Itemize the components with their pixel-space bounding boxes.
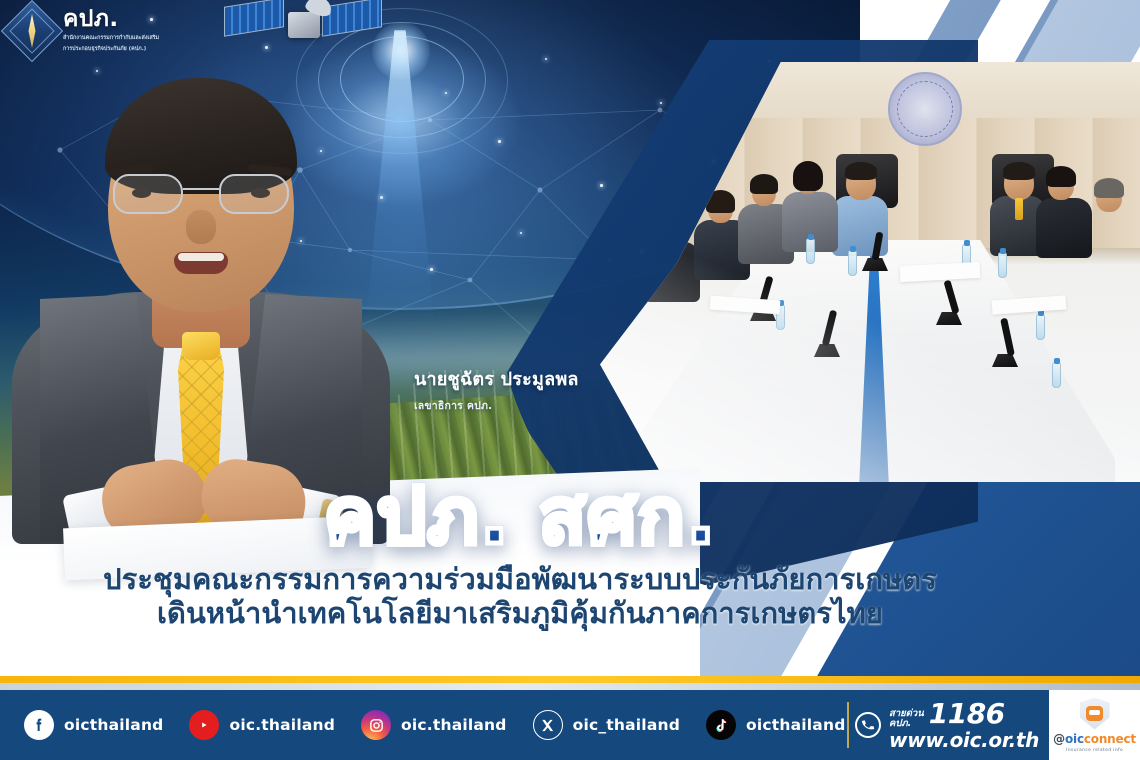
diamond-beam-icon bbox=[1, 0, 63, 62]
phone-icon bbox=[853, 710, 884, 741]
instagram-icon bbox=[361, 710, 391, 740]
oicconnect-badge[interactable]: @oicconnect Insurance related info bbox=[1049, 690, 1140, 760]
logo-text-block: คปภ. สำนักงานคณะกรรมการกำกับและส่งเสริม … bbox=[63, 8, 159, 53]
youtube-icon bbox=[189, 710, 219, 740]
social-facebook[interactable]: oicthailand bbox=[24, 710, 163, 740]
social-x-label: oic_thailand bbox=[573, 716, 680, 734]
social-instagram-label: oic.thailand bbox=[401, 716, 507, 734]
poster-canvas: คปภ. สำนักงานคณะกรรมการกำกับและส่งเสริม … bbox=[0, 0, 1140, 760]
headline-block: คปภ. สศก. ประชุมคณะกรรมการความร่วมมือพัฒ… bbox=[0, 478, 1040, 630]
nose bbox=[186, 210, 216, 244]
speaker-portrait bbox=[6, 70, 396, 540]
tiktok-icon bbox=[706, 710, 736, 740]
social-youtube[interactable]: oic.thailand bbox=[189, 710, 335, 740]
social-x-twitter[interactable]: oic_thailand bbox=[533, 710, 680, 740]
satellite-icon bbox=[222, 0, 382, 64]
oic-logo[interactable]: คปภ. สำนักงานคณะกรรมการกำกับและส่งเสริม … bbox=[10, 8, 159, 53]
teeth bbox=[178, 253, 224, 261]
speaker-name: นายชูฉัตร ประมูลพล bbox=[414, 364, 579, 393]
oicconnect-name: @oicconnect bbox=[1053, 732, 1136, 746]
hotline-block[interactable]: สายด่วน คปภ. 1186 www.oic.or.th bbox=[855, 699, 1049, 750]
headline-subtitle-line1: ประชุมคณะกรรมการความร่วมมือพัฒนาระบบประก… bbox=[0, 562, 1040, 596]
logo-abbreviation: คปภ. bbox=[63, 8, 159, 31]
x-twitter-icon bbox=[533, 710, 563, 740]
logo-subtitle-line1: สำนักงานคณะกรรมการกำกับและส่งเสริม bbox=[63, 34, 159, 42]
social-links: oicthailand oic.thailand oic.thailand bbox=[0, 710, 845, 740]
hotline-number: 1186 bbox=[929, 699, 1005, 728]
footer-bar: oicthailand oic.thailand oic.thailand bbox=[0, 690, 1140, 760]
website-url: www.oic.or.th bbox=[889, 730, 1039, 751]
social-youtube-label: oic.thailand bbox=[229, 716, 335, 734]
social-instagram[interactable]: oic.thailand bbox=[361, 710, 507, 740]
footer-divider bbox=[847, 702, 849, 748]
robot-shield-icon bbox=[1080, 698, 1110, 730]
oicconnect-at: @ bbox=[1053, 732, 1065, 746]
speaker-role: เลขาธิการ คปภ. bbox=[414, 397, 579, 414]
oicconnect-tagline: Insurance related info bbox=[1066, 748, 1123, 753]
necktie-knot bbox=[182, 332, 220, 360]
logo-subtitle-line2: การประกอบธุรกิจประกันภัย (คปภ.) bbox=[63, 45, 159, 53]
social-facebook-label: oicthailand bbox=[64, 716, 163, 734]
gray-divider-bar bbox=[0, 683, 1140, 690]
headline-subtitle-line2: เดินหน้านำเทคโนโลยีมาเสริมภูมิคุ้มกันภาค… bbox=[0, 596, 1040, 630]
headline-main-title: คปภ. สศก. bbox=[0, 478, 1040, 556]
social-tiktok-label: oicthailand bbox=[746, 716, 845, 734]
speaker-caption: นายชูฉัตร ประมูลพล เลขาธิการ คปภ. bbox=[414, 364, 579, 414]
social-tiktok[interactable]: oicthailand bbox=[706, 710, 845, 740]
oicconnect-name-part1: oic bbox=[1065, 732, 1084, 746]
oicconnect-name-part2: connect bbox=[1084, 732, 1136, 746]
facebook-icon bbox=[24, 710, 54, 740]
headline-subtitle: ประชุมคณะกรรมการความร่วมมือพัฒนาระบบประก… bbox=[0, 562, 1040, 630]
